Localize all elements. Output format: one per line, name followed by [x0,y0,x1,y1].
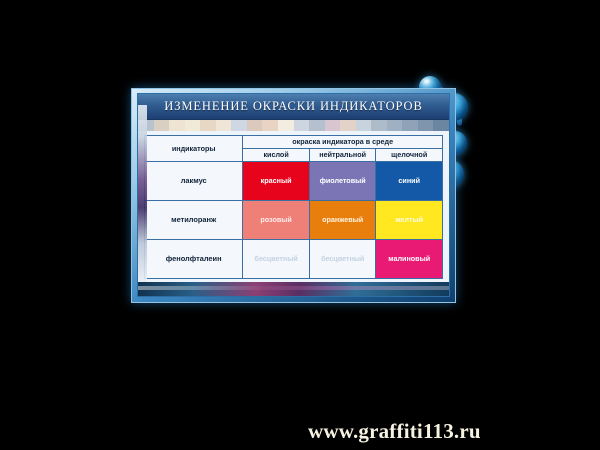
photo-strip-swatch [200,120,217,131]
molecule-bond [456,103,463,125]
photo-strip-swatch [294,120,311,131]
table-body: лакмускрасныйфиолетовыйсинийметилоранжро… [145,162,443,279]
photo-strip-swatch [231,120,248,131]
indicator-color-table: индикаторы окраска индикатора в среде ки… [144,135,443,279]
table-group-header: окраска индикатора в среде [243,136,443,149]
photo-strip-swatch [169,120,186,131]
table-cell-color: бесцветный [309,240,376,279]
poster-title-band: ИЗМЕНЕНИЕ ОКРАСКИ ИНДИКАТОРОВ [138,94,449,120]
table-cell-indicator: лакмус [145,162,243,201]
table-cell-color: малиновый [376,240,443,279]
screenshot-canvas: ИЗМЕНЕНИЕ ОКРАСКИ ИНДИКАТОРОВ индикаторы… [0,0,600,450]
photo-strip-swatch [371,120,388,131]
photo-strip-swatch [356,120,373,131]
decorative-bottom-strip [138,282,449,296]
table-cell-color: бесцветный [243,240,310,279]
photo-strip-swatch [387,120,404,131]
photo-strip-swatch [262,120,279,131]
table-cell-indicator: фенолфталеин [145,240,243,279]
photo-strip-swatch [325,120,342,131]
photo-strip-swatch [278,120,295,131]
table-row: фенолфталеинбесцветныйбесцветныймалиновы… [145,240,443,279]
table-row: лакмускрасныйфиолетовыйсиний [145,162,443,201]
table-row: метилоранжрозовыйоранжевыйжелтый [145,201,443,240]
decorative-left-sliver [138,105,147,282]
photo-strip-swatch [309,120,326,131]
poster-body: ИЗМЕНЕНИЕ ОКРАСКИ ИНДИКАТОРОВ индикаторы… [137,93,450,297]
photo-strip-swatch [247,120,264,131]
photo-strip-swatch [185,120,202,131]
photo-strip-swatch [154,120,171,131]
photo-strip-swatch [216,120,233,131]
watermark: www.graffiti113.ru [308,419,481,444]
table-cell-color: синий [376,162,443,201]
table-header-row-group: индикаторы окраска индикатора в среде [145,136,443,149]
table-cell-indicator: метилоранж [145,201,243,240]
table-cell-color: красный [243,162,310,201]
table-column-header-neutral: нейтральной [309,149,376,162]
table-column-header-acid: кислой [243,149,310,162]
table-cell-color: фиолетовый [309,162,376,201]
table-column-header-base: щелочной [376,149,443,162]
photo-strip-swatch [340,120,357,131]
table-cell-color: розовый [243,201,310,240]
poster-frame: ИЗМЕНЕНИЕ ОКРАСКИ ИНДИКАТОРОВ индикаторы… [131,88,456,303]
table-cell-color: желтый [376,201,443,240]
table-corner-header: индикаторы [145,136,243,162]
photo-strip-swatch [402,120,419,131]
decorative-photo-strip [138,120,449,131]
photo-strip-swatch [418,120,435,131]
photo-strip-swatch [433,120,449,131]
table-cell-color: оранжевый [309,201,376,240]
indicator-table-wrap: индикаторы окраска индикатора в среде ки… [138,131,449,282]
poster-title: ИЗМЕНЕНИЕ ОКРАСКИ ИНДИКАТОРОВ [164,99,422,114]
